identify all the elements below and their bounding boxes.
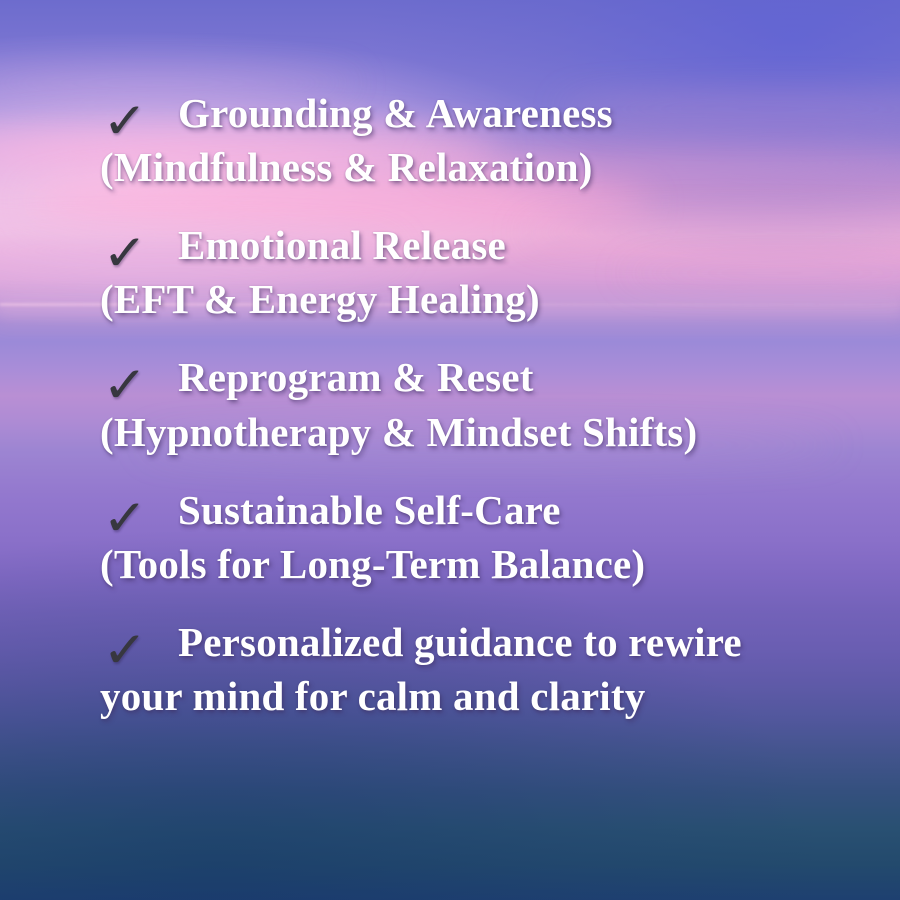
benefit-headline: Sustainable Self-Care [100,483,900,537]
benefit-headline: Reprogram & Reset [100,350,900,404]
benefit-text: Personalized guidance to rewire your min… [100,615,900,723]
benefit-text: Emotional Release (EFT & Energy Healing) [100,218,900,326]
benefit-headline: Personalized guidance to rewire [100,615,900,669]
benefit-subline: (EFT & Energy Healing) [100,272,900,326]
benefit-subline: your mind for calm and clarity [100,669,900,723]
benefit-item-reprogram-reset: ✓ Reprogram & Reset (Hypnotherapy & Mind… [0,350,900,458]
benefit-item-emotional-release: ✓ Emotional Release (EFT & Energy Healin… [0,218,900,326]
benefit-headline: Grounding & Awareness [100,86,900,140]
benefit-text: Grounding & Awareness (Mindfulness & Rel… [100,86,900,194]
benefit-subline: (Mindfulness & Relaxation) [100,140,900,194]
benefit-item-grounding-awareness: ✓ Grounding & Awareness (Mindfulness & R… [0,86,900,194]
check-mark-icon: ✓ [102,228,147,278]
benefit-headline: Emotional Release [100,218,900,272]
benefit-item-personalized-guidance: ✓ Personalized guidance to rewire your m… [0,615,900,723]
benefit-subline: (Tools for Long-Term Balance) [100,537,900,591]
check-mark-icon: ✓ [102,96,147,146]
benefit-item-sustainable-self-care: ✓ Sustainable Self-Care (Tools for Long-… [0,483,900,591]
benefits-list: ✓ Grounding & Awareness (Mindfulness & R… [0,0,900,900]
check-mark-icon: ✓ [102,493,147,543]
promotional-graphic: ✓ Grounding & Awareness (Mindfulness & R… [0,0,900,900]
benefit-subline: (Hypnotherapy & Mindset Shifts) [100,405,900,459]
check-mark-icon: ✓ [102,360,147,410]
check-mark-icon: ✓ [102,625,147,675]
benefit-text: Sustainable Self-Care (Tools for Long-Te… [100,483,900,591]
benefit-text: Reprogram & Reset (Hypnotherapy & Mindse… [100,350,900,458]
